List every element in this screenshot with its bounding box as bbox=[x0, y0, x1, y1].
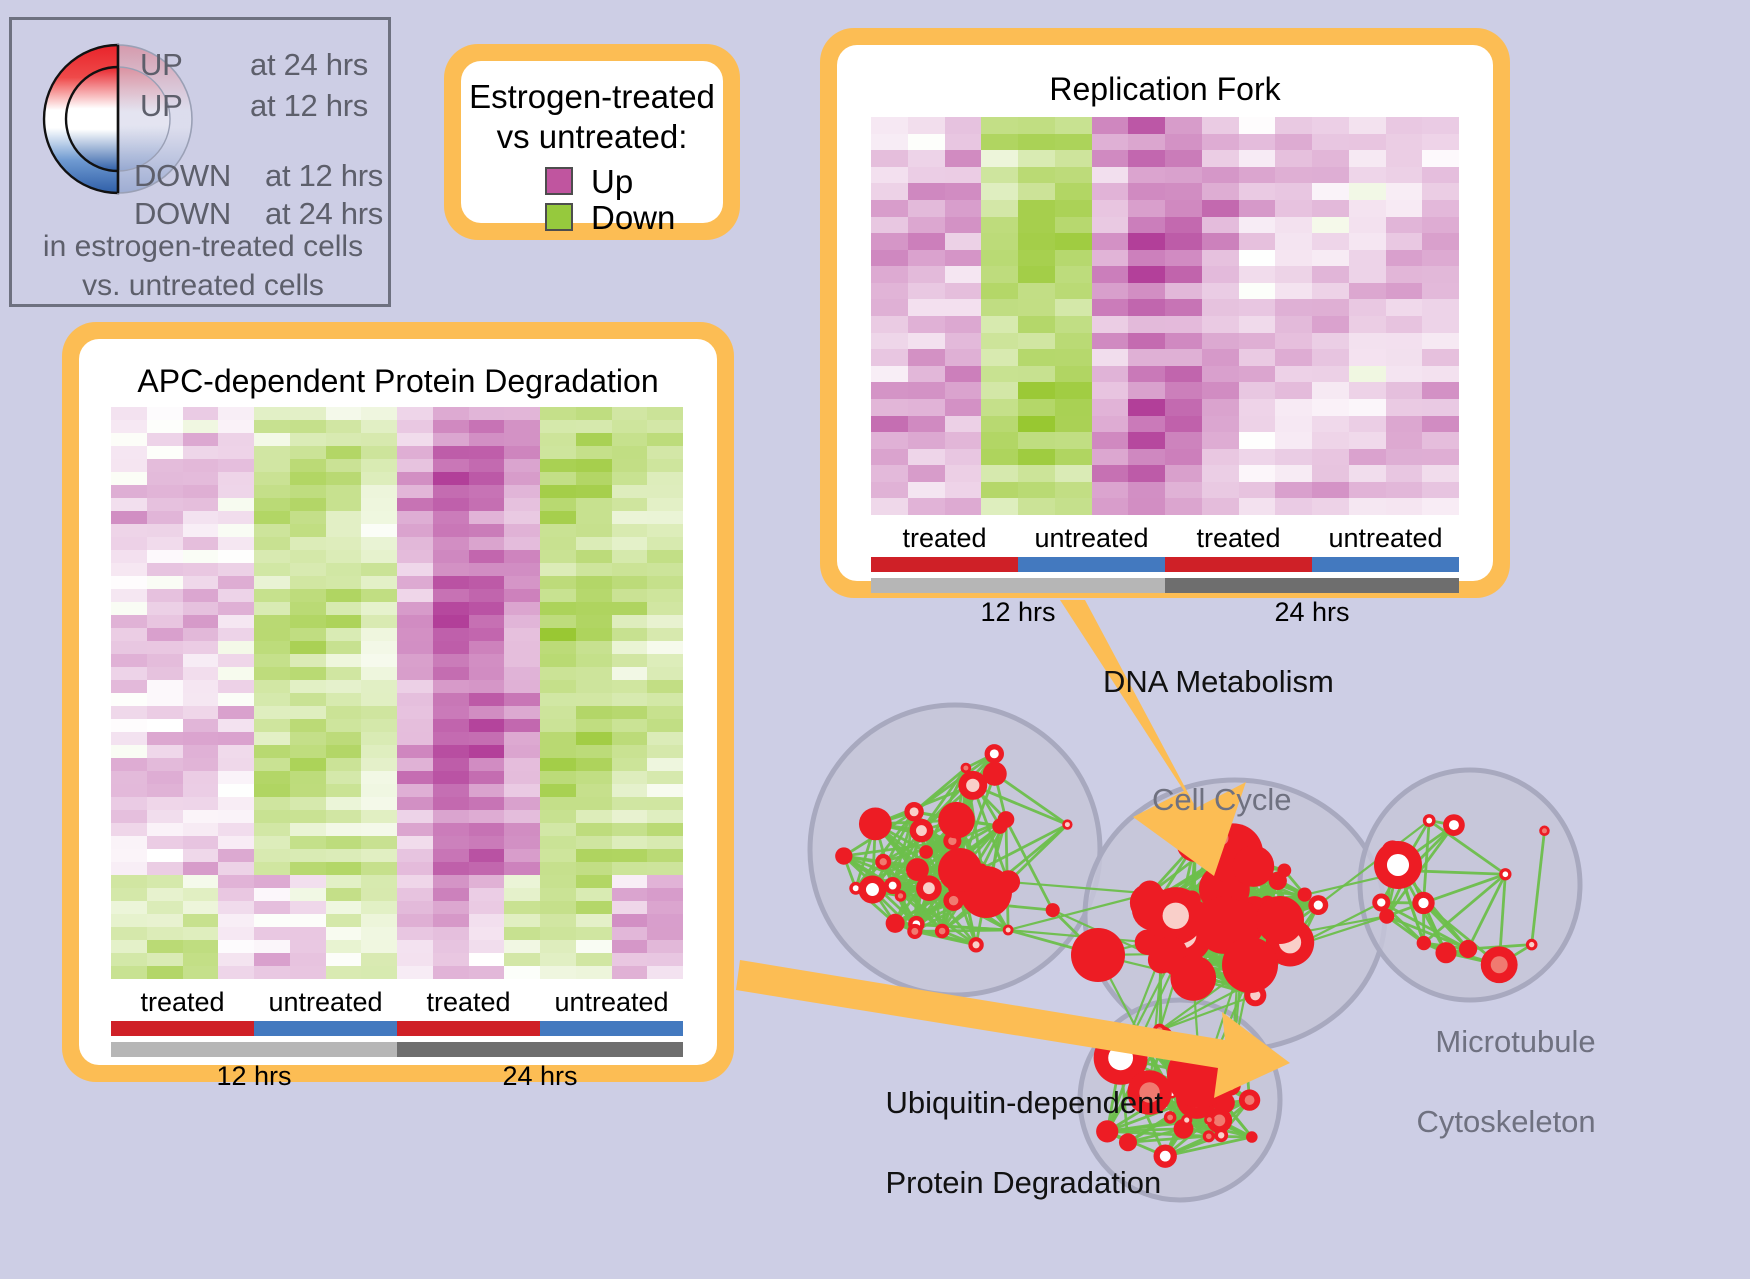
network-node bbox=[1459, 940, 1477, 958]
network-node-core bbox=[966, 779, 979, 792]
network-node-core bbox=[1184, 1117, 1189, 1122]
network-node-core bbox=[916, 825, 927, 836]
apc-degradation-inner: APC-dependent Protein Degradation treate… bbox=[79, 339, 717, 1065]
axis-group-label: untreated bbox=[268, 987, 382, 1018]
apc-time-labels: 12 hrs24 hrs bbox=[111, 1057, 683, 1089]
network-node bbox=[1379, 909, 1394, 924]
network-node bbox=[919, 845, 933, 859]
cluster-label-cytoskeleton: Cytoskeleton bbox=[1416, 1104, 1595, 1139]
legend-label-down: Down bbox=[591, 201, 675, 234]
replication-fork-heatmap bbox=[871, 117, 1459, 515]
network-node-core bbox=[1387, 854, 1409, 876]
network-node-core bbox=[1314, 901, 1323, 910]
replication-fork-card: Replication Fork treateduntreatedtreated… bbox=[820, 28, 1510, 598]
axis-time-bar bbox=[871, 578, 1165, 593]
apc-degradation-heatmap bbox=[111, 407, 683, 979]
colorwheel-footnote-line2: vs. untreated cells bbox=[12, 266, 394, 305]
network-node-core bbox=[949, 896, 958, 905]
cluster-label-cell-cycle: Cell Cycle bbox=[1152, 782, 1292, 818]
axis-group-label: untreated bbox=[1328, 523, 1442, 554]
network-node-core bbox=[1503, 871, 1509, 877]
network-node bbox=[906, 858, 929, 881]
network-node-core bbox=[1377, 898, 1385, 906]
network-node-core bbox=[1207, 1117, 1212, 1122]
replication-fork-group-labels: treateduntreatedtreateduntreated bbox=[871, 523, 1459, 557]
network-node bbox=[1170, 955, 1216, 1001]
network-node bbox=[1071, 928, 1125, 982]
wheel-time-0: at 24 hrs bbox=[250, 47, 368, 83]
legend-item-down: Down bbox=[545, 199, 723, 235]
apc-group-labels: treateduntreatedtreateduntreated bbox=[111, 987, 683, 1021]
network-node bbox=[1177, 825, 1214, 862]
network-node-core bbox=[1163, 903, 1189, 929]
network-node bbox=[1233, 845, 1274, 886]
network-node bbox=[1435, 942, 1456, 963]
network-node bbox=[992, 818, 1007, 833]
network-node bbox=[1417, 936, 1431, 950]
cluster-label-microtubule: Microtubule bbox=[1435, 1024, 1595, 1059]
network-node bbox=[859, 807, 892, 840]
updown-legend-title-line2: vs untreated: bbox=[461, 117, 723, 157]
axis-group-bar bbox=[1312, 557, 1459, 572]
network-node-core bbox=[889, 882, 897, 890]
network-node-core bbox=[1206, 1133, 1212, 1139]
network-node-core bbox=[880, 858, 887, 865]
network-node-core bbox=[898, 893, 903, 898]
colorwheel-footnote: in estrogen-treated cells vs. untreated … bbox=[12, 227, 394, 305]
down-swatch-icon bbox=[545, 203, 573, 231]
axis-group-label: treated bbox=[1196, 523, 1280, 554]
apc-group-bars bbox=[111, 1021, 683, 1036]
network-node bbox=[1217, 881, 1235, 899]
replication-fork-axis: treateduntreatedtreateduntreated 12 hrs2… bbox=[871, 523, 1459, 625]
figure-canvas: UP at 24 hrs UP at 12 hrs DOWN at 12 hrs… bbox=[0, 0, 1750, 1279]
axis-group-label: treated bbox=[902, 523, 986, 554]
wheel-time-2: at 12 hrs bbox=[265, 158, 383, 194]
network-node bbox=[1167, 1042, 1233, 1108]
updown-legend-rows: Up Down bbox=[461, 163, 723, 235]
network-node bbox=[835, 847, 852, 864]
wheel-state-0: UP bbox=[140, 47, 182, 83]
apc-degradation-axis: treateduntreatedtreateduntreated 12 hrs2… bbox=[111, 987, 683, 1089]
axis-group-bar bbox=[540, 1021, 683, 1036]
network-node-core bbox=[1065, 822, 1070, 827]
wheel-state-2: DOWN bbox=[134, 158, 231, 194]
network-node-core bbox=[910, 807, 919, 816]
apc-degradation-title: APC-dependent Protein Degradation bbox=[79, 363, 717, 400]
cluster-label-microtubule-cytoskeleton: Microtubule Cytoskeleton bbox=[1382, 982, 1596, 1182]
cluster-label-ubiquitin-degradation: Ubiquitin-dependent Protein Degradation bbox=[851, 1043, 1163, 1243]
wheel-time-1: at 12 hrs bbox=[250, 88, 368, 124]
network-node-core bbox=[1242, 1061, 1252, 1071]
network-node-core bbox=[1218, 1132, 1224, 1138]
replication-fork-title: Replication Fork bbox=[837, 71, 1493, 108]
cluster-label-dna-metabolism: DNA Metabolism bbox=[1103, 664, 1334, 700]
axis-time-label: 12 hrs bbox=[216, 1061, 291, 1092]
network-node-core bbox=[1167, 1115, 1173, 1121]
network-node-core bbox=[990, 749, 999, 758]
network-node-core bbox=[911, 928, 918, 935]
replication-fork-inner: Replication Fork treateduntreatedtreated… bbox=[837, 45, 1493, 581]
network-node-core bbox=[1529, 942, 1534, 947]
network-node-core bbox=[1156, 1027, 1162, 1033]
colorwheel-legend-box: UP at 24 hrs UP at 12 hrs DOWN at 12 hrs… bbox=[9, 17, 391, 307]
network-node bbox=[1222, 937, 1278, 993]
legend-label-up: Up bbox=[591, 165, 633, 198]
updown-legend-card: Estrogen-treated vs untreated: Up Down bbox=[444, 44, 740, 240]
network-node bbox=[938, 802, 975, 839]
network-node-core bbox=[1449, 820, 1459, 830]
axis-time-label: 24 hrs bbox=[502, 1061, 577, 1092]
axis-group-bar bbox=[871, 557, 1018, 572]
network-node-core bbox=[1542, 828, 1547, 833]
apc-time-bars bbox=[111, 1042, 683, 1057]
network-node bbox=[1298, 887, 1312, 901]
axis-group-bar bbox=[111, 1021, 254, 1036]
wheel-state-1: UP bbox=[140, 88, 182, 124]
network-node-core bbox=[853, 885, 859, 891]
axis-group-label: treated bbox=[140, 987, 224, 1018]
network-node-core bbox=[923, 882, 935, 894]
network-node-core bbox=[1245, 1095, 1255, 1105]
axis-group-bar bbox=[397, 1021, 540, 1036]
updown-legend-inner: Estrogen-treated vs untreated: Up Down bbox=[461, 61, 723, 223]
axis-time-bar bbox=[1165, 578, 1459, 593]
axis-group-bar bbox=[254, 1021, 397, 1036]
axis-group-bar bbox=[1018, 557, 1165, 572]
network-node-core bbox=[1491, 956, 1508, 973]
colorwheel-footnote-line1: in estrogen-treated cells bbox=[12, 227, 394, 266]
cluster-label-protein-degradation: Protein Degradation bbox=[885, 1165, 1161, 1200]
axis-group-label: untreated bbox=[1034, 523, 1148, 554]
network-node bbox=[886, 914, 905, 933]
network-node bbox=[1046, 903, 1060, 917]
network-node bbox=[1256, 896, 1304, 944]
cluster-label-ubiquitin: Ubiquitin-dependent bbox=[885, 1085, 1163, 1120]
network-node bbox=[1277, 863, 1291, 877]
replication-fork-group-bars bbox=[871, 557, 1459, 572]
apc-degradation-card: APC-dependent Protein Degradation treate… bbox=[62, 322, 734, 1082]
network-node-core bbox=[1418, 898, 1428, 908]
up-swatch-icon bbox=[545, 167, 573, 195]
network-node bbox=[938, 848, 982, 892]
network-node-core bbox=[963, 766, 968, 771]
network-node-core bbox=[1006, 928, 1011, 933]
axis-time-bar bbox=[111, 1042, 397, 1057]
axis-group-bar bbox=[1165, 557, 1312, 572]
network-node-core bbox=[1426, 818, 1432, 824]
network-node bbox=[1246, 1131, 1258, 1143]
legend-item-up: Up bbox=[545, 163, 723, 199]
network-node-core bbox=[939, 928, 946, 935]
network-node-core bbox=[866, 883, 879, 896]
replication-fork-time-bars bbox=[871, 578, 1459, 593]
axis-group-label: untreated bbox=[554, 987, 668, 1018]
updown-legend-title-line1: Estrogen-treated bbox=[461, 77, 723, 117]
axis-time-bar bbox=[397, 1042, 683, 1057]
network-node-core bbox=[1214, 1114, 1226, 1126]
network-node-core bbox=[1216, 832, 1229, 845]
axis-group-label: treated bbox=[426, 987, 510, 1018]
network-node-core bbox=[973, 941, 980, 948]
